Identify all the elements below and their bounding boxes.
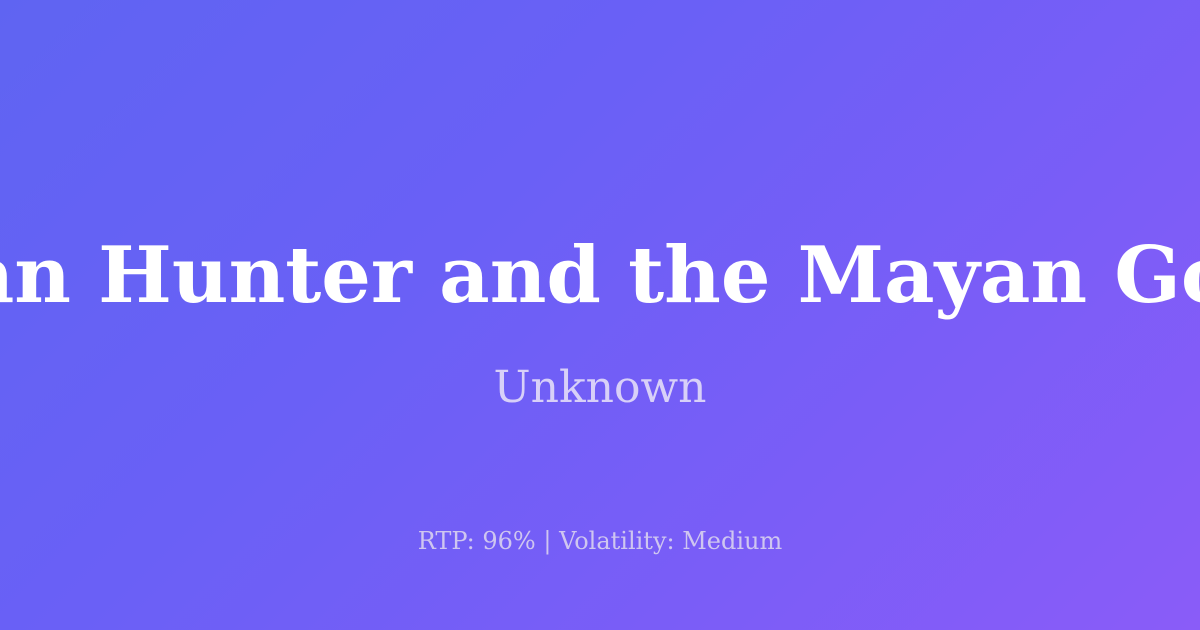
game-provider-container: Unknown bbox=[0, 360, 1200, 416]
game-title: John Hunter and the Mayan Gods bbox=[0, 228, 1200, 324]
game-title-container: John Hunter and the Mayan Gods bbox=[0, 228, 1200, 324]
game-hero-card: John Hunter and the Mayan Gods Unknown R… bbox=[0, 0, 1200, 630]
game-provider: Unknown bbox=[0, 360, 1200, 416]
game-meta-line: RTP: 96% | Volatility: Medium bbox=[0, 524, 1200, 558]
game-meta-container: RTP: 96% | Volatility: Medium bbox=[0, 524, 1200, 558]
